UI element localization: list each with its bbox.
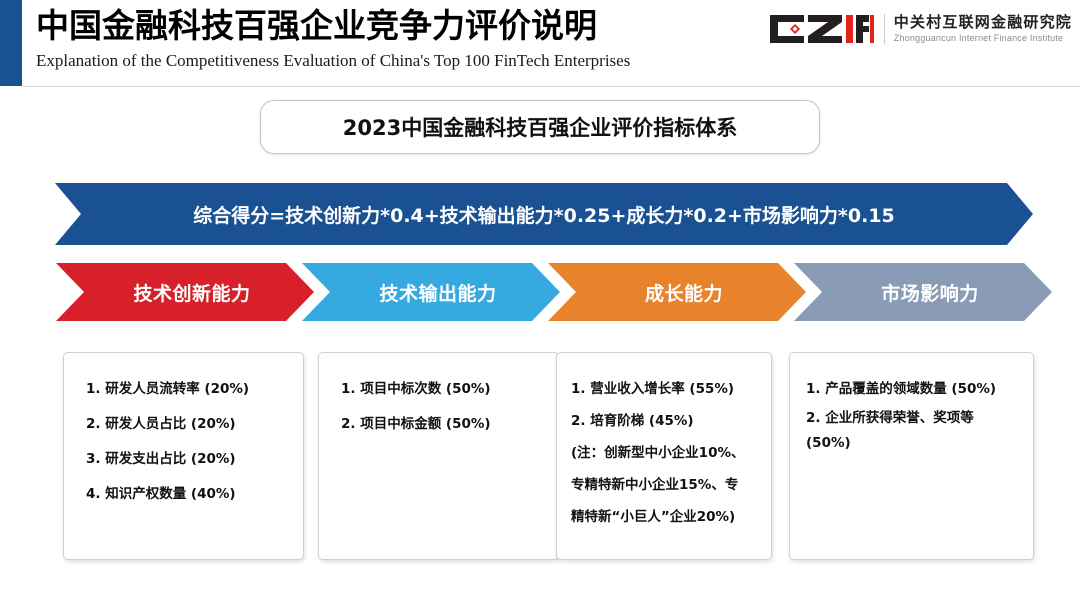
header-divider [22, 86, 1080, 87]
dimension-label: 市场影响力 [867, 279, 979, 306]
page-header: 中国金融科技百强企业竞争力评价说明 Explanation of the Com… [0, 0, 1080, 90]
card-line: 精特新“小巨人”企业20%) [571, 509, 757, 526]
card-line: 2. 企业所获得荣誉、奖项等 (50%) [806, 406, 1019, 456]
card-line: 1. 项目中标次数 (50%) [341, 381, 544, 398]
detail-card-growth: 1. 营业收入增长率 (55%) 2. 培育阶梯 (45%) (注：创新型中小企… [556, 352, 772, 560]
header-accent-bar [0, 0, 22, 86]
title-block: 中国金融科技百强企业竞争力评价说明 Explanation of the Com… [36, 4, 630, 73]
dimension-chevron-market-influence: 市场影响力 [794, 263, 1052, 321]
card-line: 1. 产品覆盖的领域数量 (50%) [806, 381, 1019, 398]
dimension-label: 技术输出能力 [365, 279, 496, 306]
card-line: 2. 培育阶梯 (45%) [571, 413, 757, 430]
detail-card-tech-innovation: 1. 研发人员流转率 (20%) 2. 研发人员占比 (20%) 3. 研发支出… [63, 352, 304, 560]
logo-chinese-name: 中关村互联网金融研究院 [894, 13, 1072, 32]
composite-score-formula-text: 综合得分=技术创新力*0.4+技术输出能力*0.25+成长力*0.2+市场影响力… [193, 201, 895, 228]
logo-english-name: Zhongguancun Internet Finance Institute [894, 32, 1072, 45]
czifi-logo-icon [770, 15, 874, 43]
card-line: 1. 营业收入增长率 (55%) [571, 381, 757, 398]
card-line: 2. 研发人员占比 (20%) [86, 416, 289, 433]
dimension-label: 成长能力 [631, 279, 723, 306]
composite-score-formula-banner: 综合得分=技术创新力*0.4+技术输出能力*0.25+成长力*0.2+市场影响力… [55, 183, 1033, 245]
dimension-chevron-tech-output: 技术输出能力 [302, 263, 560, 321]
dimension-chevron-tech-innovation: 技术创新能力 [56, 263, 314, 321]
detail-card-market-influence: 1. 产品覆盖的领域数量 (50%) 2. 企业所获得荣誉、奖项等 (50%) [789, 352, 1034, 560]
card-line: 1. 研发人员流转率 (20%) [86, 381, 289, 398]
logo-divider [884, 14, 885, 44]
card-line: 2. 项目中标金额 (50%) [341, 416, 544, 433]
dimension-chevron-growth: 成长能力 [548, 263, 806, 321]
card-line: 3. 研发支出占比 (20%) [86, 451, 289, 468]
institute-logo: 中关村互联网金融研究院 Zhongguancun Internet Financ… [770, 9, 1072, 49]
dimension-label: 技术创新能力 [119, 279, 250, 306]
card-line: 专精特新中小企业15%、专 [571, 477, 757, 494]
page-title: 中国金融科技百强企业竞争力评价说明 [36, 4, 630, 48]
page-subtitle: Explanation of the Competitiveness Evalu… [36, 49, 630, 73]
logo-text-block: 中关村互联网金融研究院 Zhongguancun Internet Financ… [894, 13, 1072, 45]
card-line: (注：创新型中小企业10%、 [571, 445, 757, 462]
card-line: 4. 知识产权数量 (40%) [86, 486, 289, 503]
detail-card-tech-output: 1. 项目中标次数 (50%) 2. 项目中标金额 (50%) [318, 352, 559, 560]
index-system-title-box: 2023中国金融科技百强企业评价指标体系 [260, 100, 820, 154]
index-system-title-text: 2023中国金融科技百强企业评价指标体系 [343, 112, 737, 142]
